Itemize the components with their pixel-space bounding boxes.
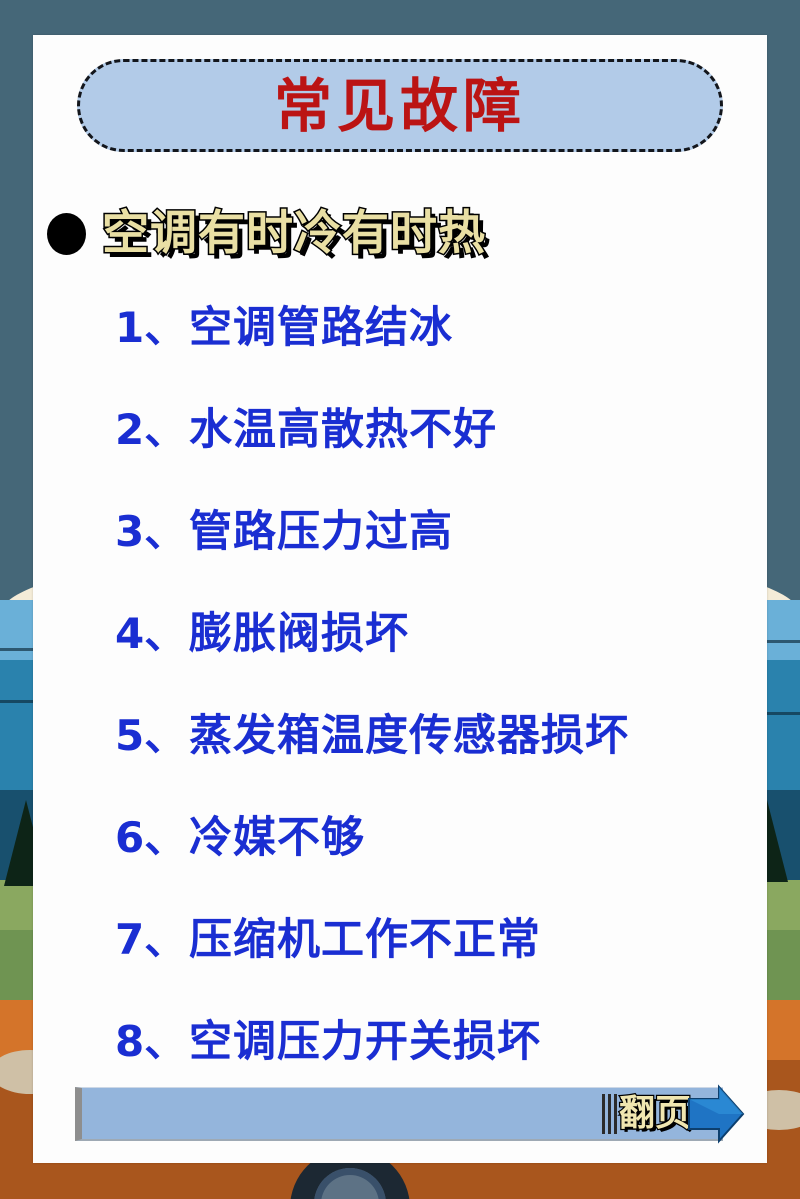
list-item-number: 8、: [115, 1021, 189, 1063]
page-title: 常见故障: [274, 77, 526, 135]
list-item: 3、 管路压力过高: [115, 511, 757, 613]
list-item-number: 2、: [115, 409, 189, 451]
list-item: 1、 空调管路结冰: [115, 307, 757, 409]
list-item-label: 膨胀阀损坏: [189, 613, 409, 656]
list-item: 5、 蒸发箱温度传感器损坏: [115, 715, 757, 817]
list-item-number: 5、: [115, 715, 189, 757]
arrow-right-icon[interactable]: [685, 1083, 747, 1145]
slide-title-banner: 常见故障: [77, 59, 723, 152]
list-item-number: 3、: [115, 511, 189, 553]
list-item-label: 蒸发箱温度传感器损坏: [189, 715, 629, 758]
list-item: 4、 膨胀阀损坏: [115, 613, 757, 715]
list-item-label: 冷媒不够: [189, 817, 365, 860]
section-heading-label: 空调有时冷有时热: [102, 209, 486, 258]
list-item-number: 1、: [115, 307, 189, 349]
section-heading: 空调有时冷有时热: [47, 209, 486, 258]
footer-bar: 翻页: [75, 1087, 723, 1141]
tick-marks-icon: [602, 1094, 617, 1134]
list-item: 7、 压缩机工作不正常: [115, 919, 757, 1021]
black-dot-icon: [47, 213, 86, 255]
list-item-label: 水温高散热不好: [189, 409, 497, 452]
list-item: 6、 冷媒不够: [115, 817, 757, 919]
list-item: 2、 水温高散热不好: [115, 409, 757, 511]
list-item-number: 4、: [115, 613, 189, 655]
fault-list: 1、 空调管路结冰 2、 水温高散热不好 3、 管路压力过高 4、 膨胀阀损坏 …: [115, 307, 757, 1123]
turn-page-label: 翻页: [619, 1096, 691, 1132]
list-item-label: 空调管路结冰: [189, 307, 453, 350]
list-item-number: 6、: [115, 817, 189, 859]
slide-card: 常见故障 空调有时冷有时热 1、 空调管路结冰 2、 水温高散热不好 3、 管路…: [33, 35, 767, 1163]
slide-canvas: 常见故障 空调有时冷有时热 1、 空调管路结冰 2、 水温高散热不好 3、 管路…: [0, 0, 800, 1199]
list-item-label: 空调压力开关损坏: [189, 1021, 541, 1064]
list-item-label: 管路压力过高: [189, 511, 453, 554]
turn-page-button[interactable]: 翻页: [602, 1083, 747, 1145]
list-item-number: 7、: [115, 919, 189, 961]
list-item-label: 压缩机工作不正常: [189, 919, 541, 962]
